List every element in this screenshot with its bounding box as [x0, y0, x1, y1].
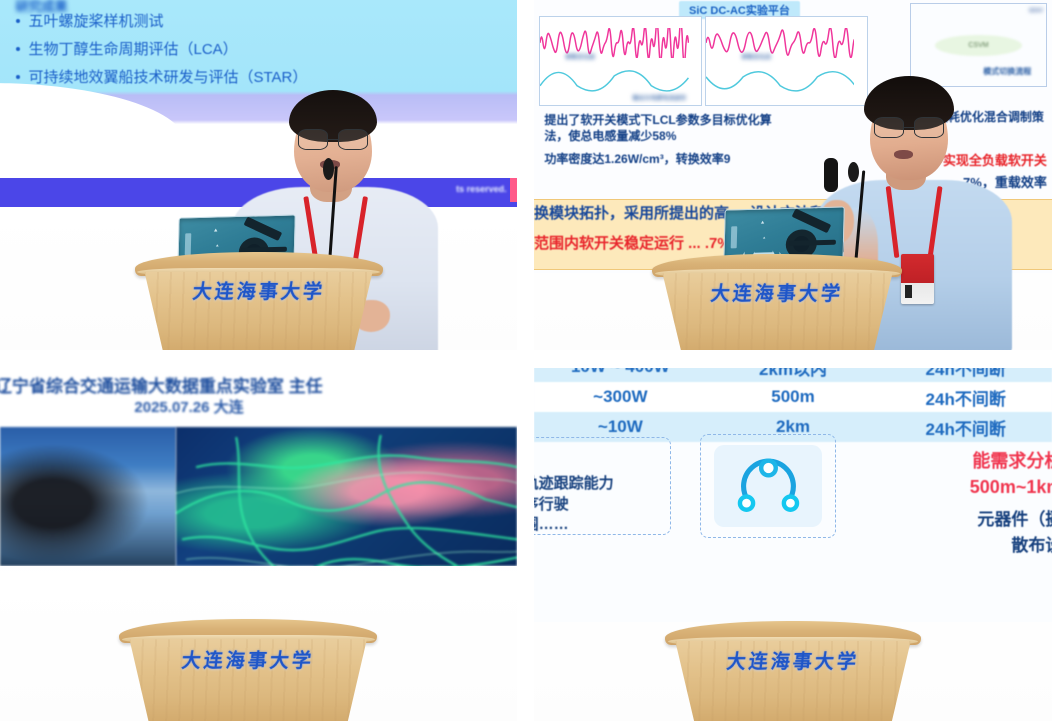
- projected-slide-4: 10W ~ 400W 2km以内 24h不间断 ~300W 500m 24h不间…: [534, 368, 1052, 622]
- speaker-2-id-badge: [901, 254, 934, 304]
- list-item: 生物丁醇生命周期评估（LCA）: [16, 38, 308, 59]
- podium-1: 大连海事大学: [135, 252, 383, 350]
- cell-duration: 24h不间断: [879, 415, 1052, 440]
- network-ring-icon: [720, 449, 817, 522]
- bullet-dot-icon: [16, 75, 20, 79]
- cell-duration: 24h不间断: [879, 368, 1052, 380]
- slide1-corner-accent: [510, 178, 517, 202]
- slide4-right-note-1: 能需求分析: [972, 447, 1052, 473]
- bullet-dot-icon: [16, 47, 20, 51]
- slide4-right-note-4: 散布设: [1011, 531, 1052, 556]
- slide2-sub-label-1: 参数优化前: [565, 52, 595, 61]
- laptop-bar-graphic-icon: [789, 240, 836, 246]
- glasses-bridge: [328, 139, 337, 141]
- slide4-left-note-2: 序行驶: [534, 493, 569, 514]
- slide3-shipping-density-map: [176, 427, 517, 565]
- slide3-date-line: 2025.07.26 大连: [134, 396, 243, 417]
- slide4-left-note-3: 围……: [534, 513, 569, 534]
- slide1-footer-note: ts reserved.: [456, 184, 507, 194]
- slide4-right-note-2: 500m~1km: [970, 477, 1052, 498]
- list-item: 五叶螺旋桨样机测试: [16, 10, 308, 31]
- waveform-cyan-icon: [540, 66, 688, 96]
- bullet-dot-icon: [16, 19, 20, 23]
- glasses-bridge: [904, 127, 913, 129]
- handheld-microphone-2: [824, 158, 838, 192]
- cell-power: ~300W: [534, 387, 707, 407]
- slide2-left-bullet-2: 功率密度达1.26W/cm³，转换效率9: [544, 150, 782, 167]
- slide4-right-note-3: 元器件（摄: [977, 505, 1052, 530]
- slide2-idsv-label: IDSV: [1029, 8, 1043, 14]
- microphone-head-1: [323, 158, 334, 180]
- laptop-triangle-logo-icon: [741, 220, 783, 258]
- podium-4: 大连海事大学: [665, 621, 921, 721]
- podium-2: 大连海事大学: [652, 254, 902, 350]
- podium-brand-text-4: 大连海事大学: [664, 647, 923, 674]
- cell-power: ~10W: [534, 417, 707, 437]
- cell-distance: 500m: [707, 387, 880, 407]
- slide1-bullet-1: 五叶螺旋桨样机测试: [29, 10, 164, 31]
- glasses-lens-left: [298, 129, 328, 150]
- waveform-pink-icon: [540, 28, 688, 58]
- slide2-csvm-node: CSVM: [935, 35, 1021, 56]
- podium-brand-text-3: 大连海事大学: [118, 646, 379, 673]
- waveform-pink-icon: [706, 28, 854, 58]
- shipping-routes-icon: [176, 427, 517, 565]
- photo-panel-bottom-right[interactable]: 10W ~ 400W 2km以内 24h不间断 ~300W 500m 24h不间…: [534, 368, 1052, 721]
- photo-panel-bottom-left[interactable]: 辽宁省综合交通运输大数据重点实验室 主任 2025.07.26 大连: [0, 368, 517, 721]
- badge-qr-icon: [905, 285, 912, 298]
- glasses-lens-left: [874, 117, 904, 138]
- laptop-crane-graphic-icon: [244, 216, 283, 240]
- projected-slide-3: 辽宁省综合交通运输大数据重点实验室 主任 2025.07.26 大连: [0, 368, 517, 566]
- photo-panel-top-right[interactable]: SiC DC-AC实验平台 参数优化前 参数优化后 输出与电感电流波形: [534, 0, 1052, 350]
- table-row: ~300W 500m 24h不间断: [534, 382, 1052, 412]
- cell-power: 10W ~ 400W: [534, 368, 707, 377]
- glasses-lens-right: [914, 117, 944, 138]
- slide3-burning-ship-photo: [0, 427, 176, 565]
- cell-distance: 2km以内: [707, 368, 880, 380]
- slide4-table: 10W ~ 400W 2km以内 24h不间断 ~300W 500m 24h不间…: [534, 368, 1052, 442]
- speaker-1-glasses: [298, 130, 368, 149]
- photo-panel-top-left[interactable]: 研究成果 五叶螺旋桨样机测试 生物丁醇生命周期评估（LCA） 可持续地效翼船技术…: [0, 0, 517, 350]
- cell-duration: 24h不间断: [879, 385, 1052, 410]
- speaker-2-mouth: [894, 150, 913, 159]
- podium-brand-text-2: 大连海事大学: [651, 279, 904, 306]
- slide3-heading: 辽宁省综合交通运输大数据重点实验室 主任: [0, 372, 323, 397]
- podium-3: 大连海事大学: [119, 619, 377, 721]
- slide2-sub-label-2: 参数优化后: [741, 52, 771, 61]
- slide3-image-row: [0, 427, 517, 565]
- slide4-left-note-1: 轨迹跟踪能力: [534, 472, 614, 493]
- slide4-right-dashed-box: [700, 434, 837, 538]
- slide1-bullet-2: 生物丁醇生命周期评估（LCA）: [29, 38, 238, 59]
- table-row: 10W ~ 400W 2km以内 24h不间断: [534, 368, 1052, 382]
- speaker-2-glasses: [874, 118, 944, 137]
- microphone-head-2: [848, 162, 859, 182]
- photo-grid: 研究成果 五叶螺旋桨样机测试 生物丁醇生命周期评估（LCA） 可持续地效翼船技术…: [0, 0, 1052, 721]
- glasses-lens-right: [338, 129, 368, 150]
- slide-curve-shape: [0, 83, 186, 170]
- laptop-side-strip: [731, 226, 737, 249]
- slide2-sub-label-3: 输出与电感电流波形: [632, 93, 686, 102]
- podium-brand-text-1: 大连海事大学: [133, 277, 384, 304]
- slide2-left-bullet-1: 提出了软开关模式下LCL参数多目标优化算法，使总电感量减少58%: [544, 112, 782, 144]
